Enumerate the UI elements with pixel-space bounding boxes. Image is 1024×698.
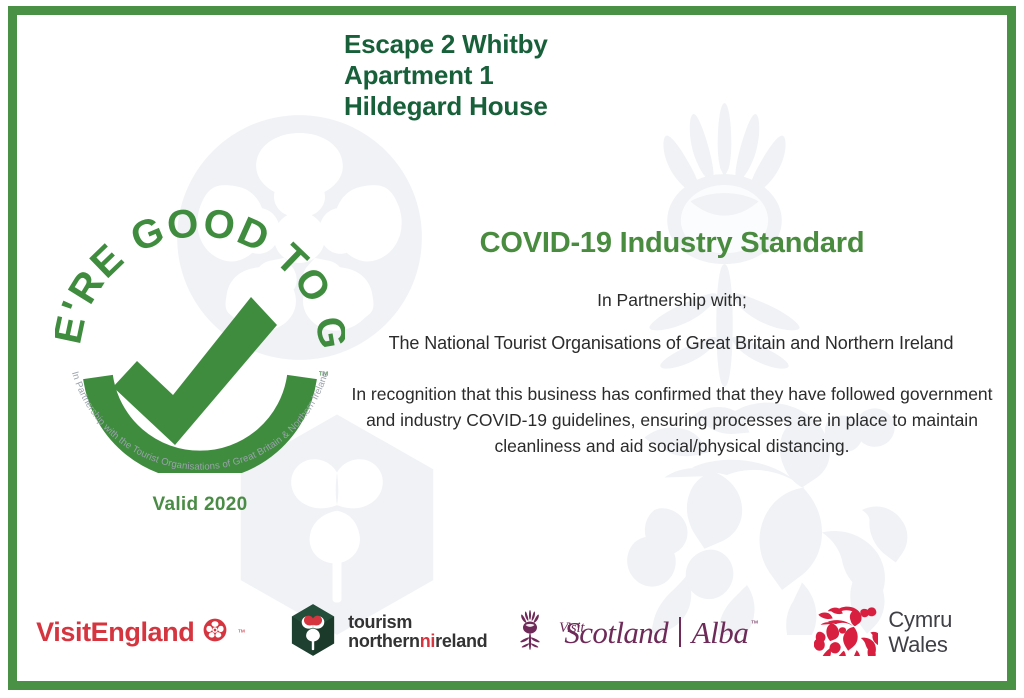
recognition-statement: In recognition that this business has co… — [347, 381, 997, 459]
tni-line-2-suffix: reland — [435, 631, 487, 651]
valid-year-label: Valid 2020 — [55, 494, 345, 516]
standard-title: COVID-19 Industry Standard — [347, 227, 997, 260]
visit-england-wordmark: VisitEngland — [36, 617, 194, 648]
visit-scotland-divider — [679, 617, 681, 647]
cymru-wales-line-1: Cymru — [888, 607, 952, 632]
thistle-icon — [515, 609, 545, 656]
badge-arc-text: WE'RE GOOD TO GO — [55, 173, 345, 354]
visit-scotland-alba: Alba — [692, 615, 749, 651]
cymru-wales-line-2: Wales — [888, 632, 952, 657]
visit-scotland-trademark: ™ — [751, 619, 759, 628]
were-good-to-go-badge: WE'RE GOOD TO GO ™ In Partnership with t… — [55, 173, 345, 473]
shamrock-hexagon-icon — [289, 603, 337, 662]
logo-visit-england: VisitEngland — [17, 596, 265, 668]
welsh-dragon-icon — [814, 604, 878, 661]
tni-line-2-prefix: northern — [348, 631, 420, 651]
visit-england-trademark: ™ — [237, 628, 245, 637]
partner-organisations: The National Tourist Organisations of Gr… — [335, 333, 1007, 354]
checkmark-icon — [113, 297, 277, 445]
property-name-line-3: Hildegard House — [344, 91, 904, 122]
logo-cymru-wales: Cymru Wales — [760, 596, 1008, 668]
certificate-page: Escape 2 Whitby Apartment 1 Hildegard Ho… — [0, 0, 1024, 698]
logo-tourism-northern-ireland: tourism northernnireland — [265, 596, 513, 668]
certificate-content: Escape 2 Whitby Apartment 1 Hildegard Ho… — [17, 15, 1007, 681]
property-name-line-2: Apartment 1 — [344, 60, 904, 91]
tudor-rose-icon — [203, 618, 227, 647]
partnership-label: In Partnership with; — [347, 290, 997, 311]
visit-scotland-visit: Visit — [559, 620, 584, 637]
property-name-line-1: Escape 2 Whitby — [344, 29, 904, 60]
partner-logo-bar: VisitEngland — [17, 596, 1007, 668]
logo-visit-scotland: Visit Scotland Alba ™ — [512, 596, 760, 668]
tni-line-2-accent: ni — [420, 631, 435, 651]
tni-line-1: tourism — [348, 613, 487, 632]
property-heading: Escape 2 Whitby Apartment 1 Hildegard Ho… — [344, 29, 904, 122]
svg-text:WE'RE GOOD TO GO: WE'RE GOOD TO GO — [55, 173, 345, 354]
